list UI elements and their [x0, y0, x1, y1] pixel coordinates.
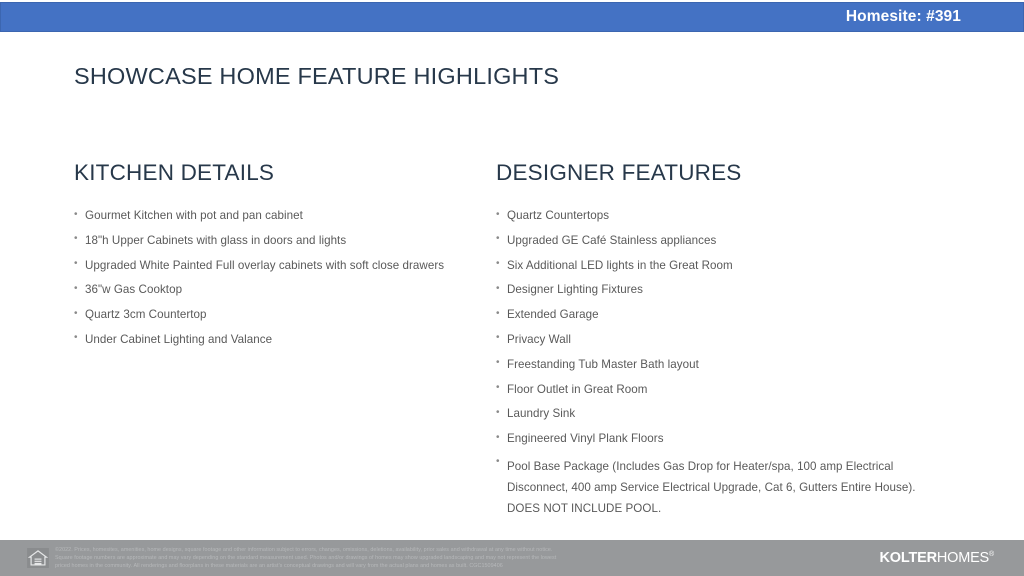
kolter-homes-logo: KOLTERHOMES®	[880, 550, 994, 566]
homesite-banner: Homesite: #391	[0, 2, 1024, 32]
equal-housing-opportunity-icon	[27, 548, 49, 568]
list-item: Laundry Sink	[496, 406, 916, 421]
list-item: Six Additional LED lights in the Great R…	[496, 258, 916, 273]
list-item: Under Cabinet Lighting and Valance	[74, 332, 474, 347]
list-item: Engineered Vinyl Plank Floors	[496, 431, 916, 446]
list-item: Upgraded GE Café Stainless appliances	[496, 233, 916, 248]
list-item: 18"h Upper Cabinets with glass in doors …	[74, 233, 474, 248]
page-title: SHOWCASE HOME FEATURE HIGHLIGHTS	[74, 63, 559, 90]
legal-disclaimer: ©2022. Prices, homesites, amenities, hom…	[55, 546, 865, 571]
footer: ©2022. Prices, homesites, amenities, hom…	[0, 540, 1024, 576]
logo-homes-text: HOMES	[937, 550, 989, 566]
list-item: Floor Outlet in Great Room	[496, 382, 916, 397]
list-item: Gourmet Kitchen with pot and pan cabinet	[74, 208, 474, 223]
designer-features-heading: DESIGNER FEATURES	[496, 160, 916, 186]
list-item: Extended Garage	[496, 307, 916, 322]
disclaimer-line-1: ©2022. Prices, homesites, amenities, hom…	[55, 546, 865, 554]
list-item: Freestanding Tub Master Bath layout	[496, 357, 916, 372]
list-item: Designer Lighting Fixtures	[496, 282, 916, 297]
kitchen-details-heading: KITCHEN DETAILS	[74, 160, 474, 186]
logo-registered-mark: ®	[989, 551, 994, 558]
kitchen-details-section: KITCHEN DETAILS Gourmet Kitchen with pot…	[74, 160, 474, 357]
list-item: 36"w Gas Cooktop	[74, 282, 474, 297]
logo-kolter-text: KOLTER	[880, 550, 937, 566]
list-item: Privacy Wall	[496, 332, 916, 347]
list-item: Quartz Countertops	[496, 208, 916, 223]
slide-canvas: Homesite: #391 SHOWCASE HOME FEATURE HIG…	[0, 0, 1024, 576]
list-item: Quartz 3cm Countertop	[74, 307, 474, 322]
designer-features-section: DESIGNER FEATURES Quartz Countertops Upg…	[496, 160, 916, 529]
list-item: Upgraded White Painted Full overlay cabi…	[74, 258, 474, 273]
disclaimer-line-3: priced homes in the community. All rende…	[55, 562, 865, 570]
designer-features-list: Quartz Countertops Upgraded GE Café Stai…	[496, 208, 916, 519]
kitchen-details-list: Gourmet Kitchen with pot and pan cabinet…	[74, 208, 474, 347]
homesite-label: Homesite: #391	[846, 8, 1023, 26]
disclaimer-line-2: Square footage numbers are approximate a…	[55, 554, 865, 562]
list-item: Pool Base Package (Includes Gas Drop for…	[496, 456, 916, 519]
